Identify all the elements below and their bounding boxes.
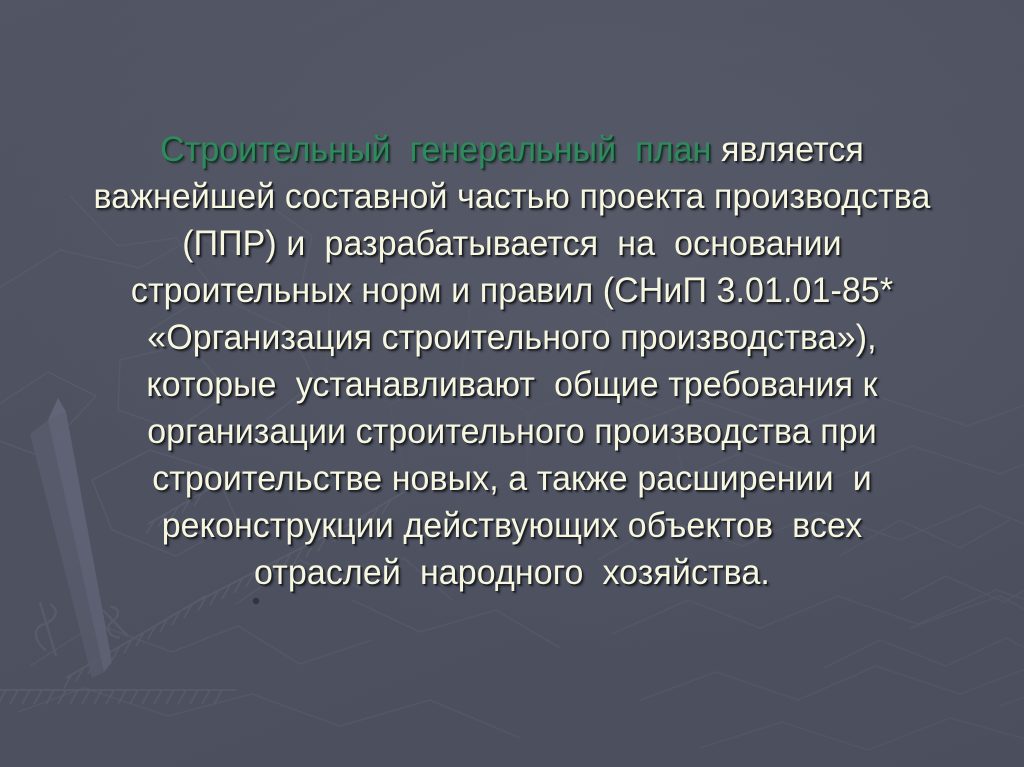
slide-canvas: Строительный генеральный план является в… [0, 0, 1024, 767]
survey-point-marker [253, 598, 259, 604]
slide-body-text: Строительный генеральный план является в… [8, 126, 1016, 596]
accent-phrase: Строительный генеральный план [160, 130, 711, 169]
text-line-1-rest: является [711, 130, 863, 169]
text-line-2: важнейшей составной частью проекта произ… [23, 173, 1001, 220]
survey-glyphs [36, 602, 129, 656]
text-line-4: строительных норм и правил (СНиП 3.01.01… [23, 267, 1001, 314]
text-line-6: которые устанавливают общие требования к [23, 361, 1001, 408]
text-line-8: строительстве новых, а также расширении … [23, 455, 1001, 502]
text-line-5: «Организация строительного производства»… [23, 314, 1001, 361]
text-line-3: (ППР) и разрабатывается на основании [23, 220, 1001, 267]
text-line-9: реконструкции действующих объектов всех [23, 502, 1001, 549]
text-line-10: отраслей народного хозяйства. [23, 549, 1001, 596]
text-line-7: организации строительного производства п… [23, 408, 1001, 455]
text-line-1: Строительный генеральный план является [23, 126, 1001, 173]
